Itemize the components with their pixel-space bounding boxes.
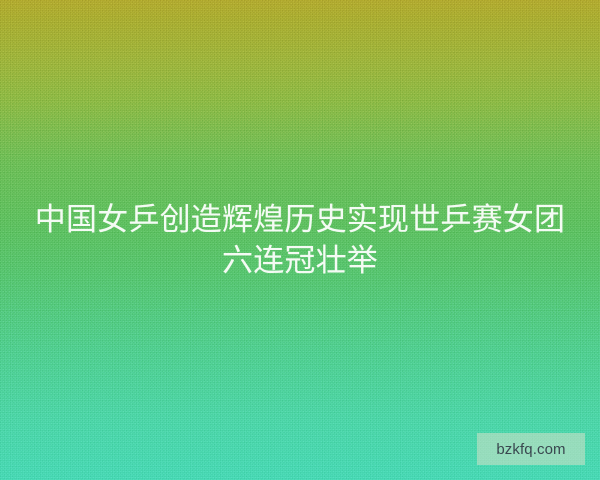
- watermark-domain-text: bzkfq.com: [496, 442, 565, 457]
- headline-title: 中国女乒创造辉煌历史实现世乒赛女团六连冠壮举: [28, 199, 572, 281]
- watermark-badge: bzkfq.com: [477, 433, 585, 465]
- headline-container: 中国女乒创造辉煌历史实现世乒赛女团六连冠壮举: [0, 0, 600, 480]
- banner-canvas: 中国女乒创造辉煌历史实现世乒赛女团六连冠壮举 bzkfq.com: [0, 0, 600, 480]
